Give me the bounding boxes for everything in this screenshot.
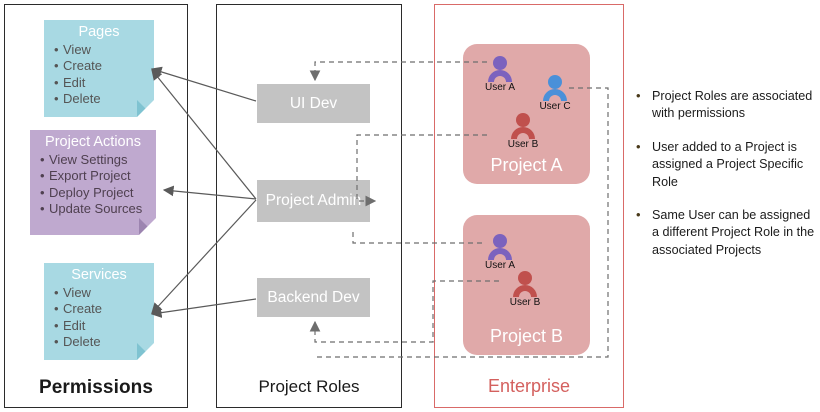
list-item: Update Sources	[40, 201, 156, 217]
user-icon-c-project-a[interactable]: User C	[538, 74, 572, 112]
permission-card-pages-header: Pages	[44, 22, 154, 41]
person-icon	[508, 112, 538, 140]
user-icon-a-project-a[interactable]: User A	[483, 55, 517, 93]
user-icon-a-project-b[interactable]: User A	[483, 233, 517, 271]
list-item: View Settings	[40, 152, 156, 168]
project-card-a-label: Project A	[463, 155, 590, 176]
user-label: User C	[538, 101, 572, 112]
list-item: Create	[54, 301, 154, 317]
user-label: User A	[483, 82, 517, 93]
user-icon-b-project-b[interactable]: User B	[508, 270, 542, 308]
page-fold-cut-icon	[137, 100, 154, 117]
person-icon	[485, 233, 515, 261]
permission-card-project-actions-list: View Settings Export Project Deploy Proj…	[30, 151, 156, 218]
permission-card-pages[interactable]: Pages View Create Edit Delete	[44, 20, 154, 117]
project-roles-panel-title: Project Roles	[217, 377, 401, 397]
list-item: Export Project	[40, 168, 156, 184]
permission-card-project-actions-header: Project Actions	[30, 132, 156, 151]
permission-card-services-header: Services	[44, 265, 154, 284]
person-icon	[510, 270, 540, 298]
list-item: View	[54, 285, 154, 301]
person-icon	[540, 74, 570, 102]
page-fold-cut-icon	[137, 343, 154, 360]
note-bullet-3: Same User can be assigned a different Pr…	[630, 207, 816, 259]
permissions-panel-title: Permissions	[5, 377, 187, 399]
user-label: User B	[506, 139, 540, 150]
user-label: User B	[508, 297, 542, 308]
permission-card-project-actions[interactable]: Project Actions View Settings Export Pro…	[30, 130, 156, 235]
note-bullet-1: Project Roles are associated with permis…	[630, 88, 816, 123]
list-item: Edit	[54, 75, 154, 91]
enterprise-panel-title: Enterprise	[435, 376, 623, 397]
person-icon	[485, 55, 515, 83]
role-box-project-admin[interactable]: Project Admin	[257, 180, 370, 222]
role-box-backend-dev[interactable]: Backend Dev	[257, 278, 370, 317]
permission-card-services[interactable]: Services View Create Edit Delete	[44, 263, 154, 360]
list-item: View	[54, 42, 154, 58]
list-item: Create	[54, 58, 154, 74]
page-fold-cut-icon	[139, 218, 156, 235]
project-card-b-label: Project B	[463, 326, 590, 347]
list-item: Deploy Project	[40, 185, 156, 201]
role-box-ui-dev[interactable]: UI Dev	[257, 84, 370, 123]
permission-card-pages-list: View Create Edit Delete	[44, 41, 154, 108]
notes-list: Project Roles are associated with permis…	[630, 88, 816, 275]
permission-card-services-list: View Create Edit Delete	[44, 284, 154, 351]
note-bullet-2: User added to a Project is assigned a Pr…	[630, 139, 816, 191]
list-item: Edit	[54, 318, 154, 334]
diagram-canvas: Permissions Pages View Create Edit Delet…	[0, 0, 820, 412]
user-icon-b-project-a[interactable]: User B	[506, 112, 540, 150]
